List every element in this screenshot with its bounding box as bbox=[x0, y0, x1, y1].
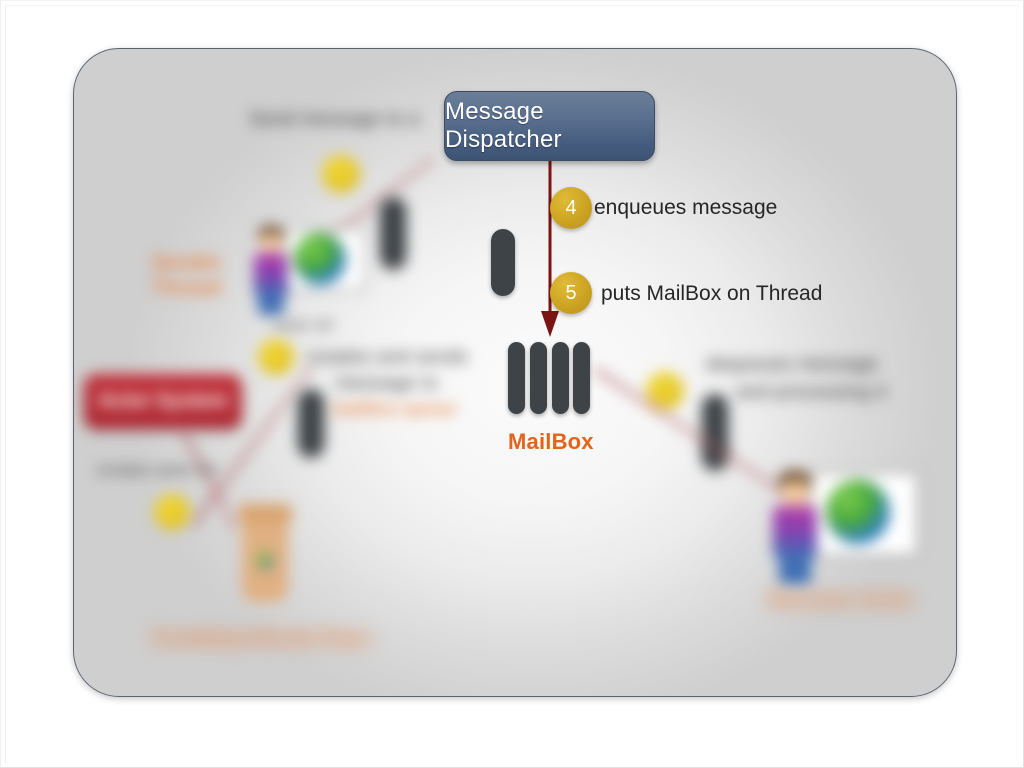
bg-person-head-left bbox=[260, 233, 282, 255]
bg-connector-1 bbox=[269, 156, 435, 287]
enqueue-flow-arrow bbox=[538, 161, 562, 337]
bg-label-mailbox-queue: mailbox queue bbox=[332, 399, 456, 419]
bg-connector-3 bbox=[180, 428, 238, 532]
step-badge-4: 4 bbox=[550, 187, 592, 229]
bg-person-body-left bbox=[254, 253, 288, 297]
bg-coffee-lid bbox=[238, 504, 292, 524]
mailbox-label: MailBox bbox=[508, 429, 593, 455]
bg-step-dot-1 bbox=[322, 155, 360, 193]
bg-monitor-frame-right bbox=[810, 472, 918, 556]
slide-frame: Send message to a Sender Thread actor re… bbox=[0, 0, 1024, 768]
bg-label-processing-it: and processing it bbox=[736, 382, 886, 404]
mailbox-bar bbox=[573, 342, 590, 414]
bg-person-hair-right bbox=[778, 470, 812, 492]
bg-thread-2 bbox=[298, 389, 324, 457]
bg-coffee-logo bbox=[256, 552, 274, 570]
message-dispatcher-node[interactable]: Message Dispatcher bbox=[444, 91, 655, 161]
bg-label-message-to: message to bbox=[336, 373, 438, 395]
bg-label-sender-thread-1: Sender bbox=[152, 252, 222, 275]
bg-coffee-cup-pictogram bbox=[232, 504, 302, 614]
step-label-4: enqueues message bbox=[594, 196, 777, 220]
idle-thread-bar[interactable] bbox=[491, 229, 515, 296]
bg-receiver-actor-pictogram bbox=[768, 464, 914, 604]
bg-monitor-frame-left bbox=[284, 229, 366, 291]
bg-step-dot-3 bbox=[154, 494, 190, 530]
bg-step-dot-2 bbox=[258, 339, 294, 375]
bg-globe-right bbox=[826, 480, 890, 544]
bg-person-legs-right bbox=[779, 554, 811, 584]
bg-thread-1 bbox=[380, 197, 406, 269]
step-badge-5-number: 5 bbox=[565, 282, 576, 305]
bg-person-legs-left bbox=[258, 293, 284, 315]
bg-label-send-message: Send message to a bbox=[249, 109, 420, 131]
bg-thread-3 bbox=[702, 394, 728, 470]
bg-step-dot-4 bbox=[646, 372, 684, 410]
bg-coffee-body bbox=[242, 522, 288, 602]
bg-actor-system-box: Actor System bbox=[84, 374, 242, 429]
bg-label-dequeues-message: dequeues message bbox=[706, 354, 878, 376]
bg-label-creates-actor: creates actor for bbox=[96, 462, 218, 480]
bg-person-body-right bbox=[773, 506, 817, 558]
mailbox-thread-group[interactable] bbox=[508, 342, 590, 414]
step-badge-5: 5 bbox=[550, 272, 592, 314]
step-badge-4-number: 4 bbox=[565, 197, 576, 220]
step-label-5: puts MailBox on Thread bbox=[601, 282, 822, 306]
bg-label-creates-sends: creates and sends bbox=[306, 347, 468, 369]
bg-label-receiver-actor: Receiver Actor bbox=[768, 589, 914, 612]
mailbox-bar bbox=[530, 342, 547, 414]
bg-connector-4 bbox=[593, 367, 833, 525]
bg-globe-left bbox=[294, 233, 346, 285]
bg-label-sender-thread-2: Thread bbox=[152, 277, 221, 300]
mailbox-bar bbox=[552, 342, 569, 414]
bg-person-hair-left bbox=[258, 225, 284, 243]
bg-person-head-right bbox=[781, 480, 809, 508]
mailbox-bar bbox=[508, 342, 525, 414]
bg-label-actor-ref: actor ref bbox=[274, 317, 333, 334]
bg-sender-actor-pictogram bbox=[246, 219, 364, 329]
bg-label-scaladays: ScalaDays/Scala Days bbox=[152, 627, 371, 650]
message-dispatcher-label: Message Dispatcher bbox=[445, 98, 654, 154]
bg-connector-2 bbox=[190, 365, 314, 527]
